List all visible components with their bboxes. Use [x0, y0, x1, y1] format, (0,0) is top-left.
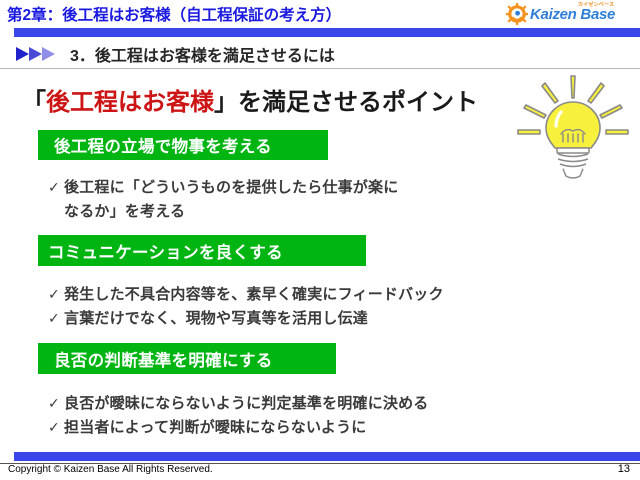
footer-accent-bar	[14, 452, 640, 461]
bullet-item: ✓言葉だけでなく、現物や写真等を活用し伝達	[48, 307, 368, 328]
header-accent-bar	[14, 28, 640, 37]
lightbulb-icon	[506, 72, 638, 184]
logo-wordmark: Kaizen Base	[530, 6, 615, 23]
check-icon: ✓	[48, 419, 64, 436]
check-icon: ✓	[48, 395, 64, 412]
copyright-text: Copyright © Kaizen Base All Rights Reser…	[8, 464, 213, 475]
page-title: 「後工程はお客様」を満足させるポイント	[22, 82, 478, 117]
chapter-title: 第2章：後工程はお客様（自工程保証の考え方）	[7, 3, 341, 25]
check-icon: ✓	[48, 286, 64, 303]
title-close-quote: 」	[214, 89, 238, 116]
triple-chevron-right-icon	[16, 46, 64, 62]
title-open-quote: 「	[22, 89, 46, 116]
section-heading-box-3: 良否の判断基準を明確にする	[38, 343, 336, 374]
subtitle-text: 3．後工程はお客様を満足させるには	[70, 42, 335, 66]
bullet-item: ✓後工程に「どういうものを提供したら仕事が楽に	[48, 176, 398, 197]
bullet-item: ✓発生した不具合内容等を、素早く確実にフィードバック	[48, 283, 444, 304]
slide-header: 第2章：後工程はお客様（自工程保証の考え方） カ	[0, 0, 640, 40]
bullet-item: ✓良否が曖昧にならないように判定基準を明確に決める	[48, 392, 429, 413]
bullet-item: ✓担当者によって判断が曖昧にならないように	[48, 416, 367, 437]
check-icon: ✓	[48, 310, 64, 327]
bullet-text: なるか」を考える	[48, 200, 185, 221]
check-icon: ✓	[48, 179, 64, 196]
section-heading-box-1: 後工程の立場で物事を考える	[38, 130, 328, 160]
title-rest: を満足させるポイント	[238, 89, 478, 116]
bullet-text: 担当者によって判断が曖昧にならないように	[64, 419, 367, 436]
section-subtitle: 3．後工程はお客様を満足させるには	[0, 42, 640, 68]
bullet-text: 後工程に「どういうものを提供したら仕事が楽に	[64, 179, 398, 196]
bullet-text: 言葉だけでなく、現物や写真等を活用し伝達	[64, 310, 368, 327]
gear-sun-icon	[506, 3, 528, 25]
subtitle-divider	[0, 68, 640, 69]
section-heading-box-2: コミュニケーションを良くする	[38, 235, 366, 266]
page-number: 13	[618, 463, 630, 475]
bullet-item-continued: なるか」を考える	[48, 200, 185, 221]
bullet-text: 良否が曖昧にならないように判定基準を明確に決める	[64, 395, 429, 412]
bullet-text: 発生した不具合内容等を、素早く確実にフィードバック	[64, 286, 444, 303]
kaizen-base-logo: カイゼンベース Kaizen Base	[506, 1, 638, 27]
title-highlight: 後工程はお客様	[46, 89, 214, 116]
